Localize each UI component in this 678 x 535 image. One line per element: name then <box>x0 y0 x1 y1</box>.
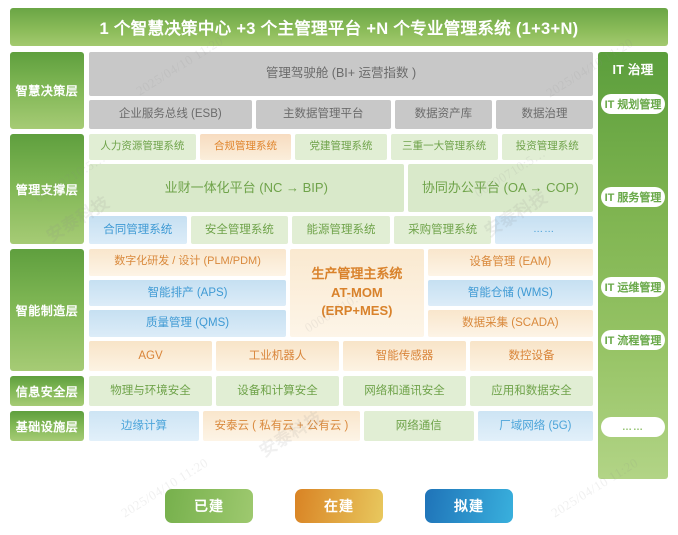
manufacturing-left-stack: 数字化研发 / 设计 (PLM/PDM) 智能排产 (APS) 质量管理 (QM… <box>89 249 286 337</box>
box-data-asset-repo[interactable]: 数据资产库 <box>395 100 492 129</box>
box-physical-environment-security[interactable]: 物理与环境安全 <box>89 376 212 406</box>
mes-title-line1: 生产管理主系统 <box>311 265 402 284</box>
it-governance-column: IT 治理 IT 规划管理 IT 服务管理 IT 运维管理 IT 流程管理 …… <box>598 52 668 479</box>
manufacturing-right-stack: 设备管理 (EAM) 智能仓储 (WMS) 数据采集 (SCADA) <box>428 249 593 337</box>
it-governance-title: IT 治理 <box>612 59 653 78</box>
management-row-3: 合同管理系统 安全管理系统 能源管理系统 采购管理系统 …… <box>89 216 593 244</box>
layer-management: 人力资源管理系统 合规管理系统 党建管理系统 三重一大管理系统 投资管理系统 业… <box>89 134 593 244</box>
box-management-more[interactable]: …… <box>495 216 593 244</box>
box-three-major-one-large-system[interactable]: 三重一大管理系统 <box>391 134 498 160</box>
box-energy-system[interactable]: 能源管理系统 <box>292 216 390 244</box>
diagram-root: 1 个智慧决策中心 +3 个主管理平台 +N 个专业管理系统 (1+3+N) 智… <box>0 0 678 535</box>
box-industrial-robot[interactable]: 工业机器人 <box>216 341 339 371</box>
diagram-body: 智慧决策层 管理支撑层 智能制造层 信息安全层 基础设施层 管理驾驶舱 (BI+… <box>10 52 668 479</box>
box-contract-system[interactable]: 合同管理系统 <box>89 216 187 244</box>
box-collaborative-office-platform[interactable]: 协同办公平台 (OA → COP) <box>408 164 593 212</box>
legend-in-progress[interactable]: 在建 <box>295 489 383 523</box>
layer-label-security: 信息安全层 <box>10 376 84 406</box>
it-pill-operations[interactable]: IT 运维管理 <box>601 277 665 297</box>
box-esb[interactable]: 企业服务总线 (ESB) <box>89 100 252 129</box>
manufacturing-main-row: 数字化研发 / 设计 (PLM/PDM) 智能排产 (APS) 质量管理 (QM… <box>89 249 593 337</box>
page-title: 1 个智慧决策中心 +3 个主管理平台 +N 个专业管理系统 (1+3+N) <box>10 8 668 46</box>
legend-built[interactable]: 已建 <box>165 489 253 523</box>
layer-label-decision: 智慧决策层 <box>10 52 84 129</box>
box-management-cockpit[interactable]: 管理驾驶舱 (BI+ 运营指数 ) <box>89 52 593 96</box>
security-row-1: 物理与环境安全 设备和计算安全 网络和通讯安全 应用和数据安全 <box>89 376 593 406</box>
box-plm-pdm[interactable]: 数字化研发 / 设计 (PLM/PDM) <box>89 249 286 276</box>
layer-security: 物理与环境安全 设备和计算安全 网络和通讯安全 应用和数据安全 <box>89 376 593 406</box>
box-compliance-system[interactable]: 合规管理系统 <box>200 134 291 160</box>
box-network-communication[interactable]: 网络通信 <box>364 411 474 441</box>
box-network-comm-security[interactable]: 网络和通讯安全 <box>343 376 466 406</box>
layer-label-manufacturing: 智能制造层 <box>10 249 84 371</box>
box-cnc-equipment[interactable]: 数控设备 <box>470 341 593 371</box>
box-master-data-platform[interactable]: 主数据管理平台 <box>256 100 391 129</box>
layer-label-column: 智慧决策层 管理支撑层 智能制造层 信息安全层 基础设施层 <box>10 52 84 479</box>
box-scada[interactable]: 数据采集 (SCADA) <box>428 310 593 337</box>
mes-title-line2: AT-MOM <box>331 284 383 303</box>
box-hr-system[interactable]: 人力资源管理系统 <box>89 134 196 160</box>
it-pill-process[interactable]: IT 流程管理 <box>601 330 665 350</box>
box-investment-system[interactable]: 投资管理系统 <box>502 134 593 160</box>
box-app-data-security[interactable]: 应用和数据安全 <box>470 376 593 406</box>
box-finance-integration-platform[interactable]: 业财一体化平台 (NC → BIP) <box>89 164 404 212</box>
management-row-2: 业财一体化平台 (NC → BIP) 协同办公平台 (OA → COP) <box>89 164 593 212</box>
it-pill-more[interactable]: …… <box>601 417 665 437</box>
legend-planned[interactable]: 拟建 <box>425 489 513 523</box>
management-row-1: 人力资源管理系统 合规管理系统 党建管理系统 三重一大管理系统 投资管理系统 <box>89 134 593 160</box>
box-agv[interactable]: AGV <box>89 341 212 371</box>
box-safety-system[interactable]: 安全管理系统 <box>191 216 289 244</box>
box-data-governance[interactable]: 数据治理 <box>496 100 593 129</box>
box-wms[interactable]: 智能仓储 (WMS) <box>428 280 593 307</box>
layer-label-infrastructure: 基础设施层 <box>10 411 84 441</box>
box-eam[interactable]: 设备管理 (EAM) <box>428 249 593 276</box>
box-production-management-main-system[interactable]: 生产管理主系统 AT-MOM (ERP+MES) <box>290 249 424 337</box>
box-device-compute-security[interactable]: 设备和计算安全 <box>216 376 339 406</box>
box-party-building-system[interactable]: 党建管理系统 <box>295 134 386 160</box>
box-smart-sensor[interactable]: 智能传感器 <box>343 341 466 371</box>
it-pill-planning[interactable]: IT 规划管理 <box>601 94 665 114</box>
box-plant-network-5g[interactable]: 厂域网络 (5G) <box>478 411 593 441</box>
box-qms[interactable]: 质量管理 (QMS) <box>89 310 286 337</box>
it-pill-service[interactable]: IT 服务管理 <box>601 187 665 207</box>
layer-content-column: 管理驾驶舱 (BI+ 运营指数 ) 企业服务总线 (ESB) 主数据管理平台 数… <box>89 52 593 479</box>
infrastructure-row-1: 边缘计算 安泰云 ( 私有云 + 公有云 ) 网络通信 厂域网络 (5G) <box>89 411 593 441</box>
decision-row-1: 管理驾驶舱 (BI+ 运营指数 ) <box>89 52 593 96</box>
box-aps[interactable]: 智能排产 (APS) <box>89 280 286 307</box>
decision-row-2: 企业服务总线 (ESB) 主数据管理平台 数据资产库 数据治理 <box>89 100 593 129</box>
box-procurement-system[interactable]: 采购管理系统 <box>394 216 492 244</box>
manufacturing-bottom-row: AGV 工业机器人 智能传感器 数控设备 <box>89 341 593 371</box>
layer-label-management: 管理支撑层 <box>10 134 84 244</box>
layer-infrastructure: 边缘计算 安泰云 ( 私有云 + 公有云 ) 网络通信 厂域网络 (5G) <box>89 411 593 441</box>
box-edge-computing[interactable]: 边缘计算 <box>89 411 199 441</box>
layer-manufacturing: 数字化研发 / 设计 (PLM/PDM) 智能排产 (APS) 质量管理 (QM… <box>89 249 593 371</box>
layer-decision: 管理驾驶舱 (BI+ 运营指数 ) 企业服务总线 (ESB) 主数据管理平台 数… <box>89 52 593 129</box>
legend: 已建 在建 拟建 <box>10 483 668 529</box>
mes-title-line3: (ERP+MES) <box>321 302 392 321</box>
box-antai-cloud[interactable]: 安泰云 ( 私有云 + 公有云 ) <box>203 411 360 441</box>
